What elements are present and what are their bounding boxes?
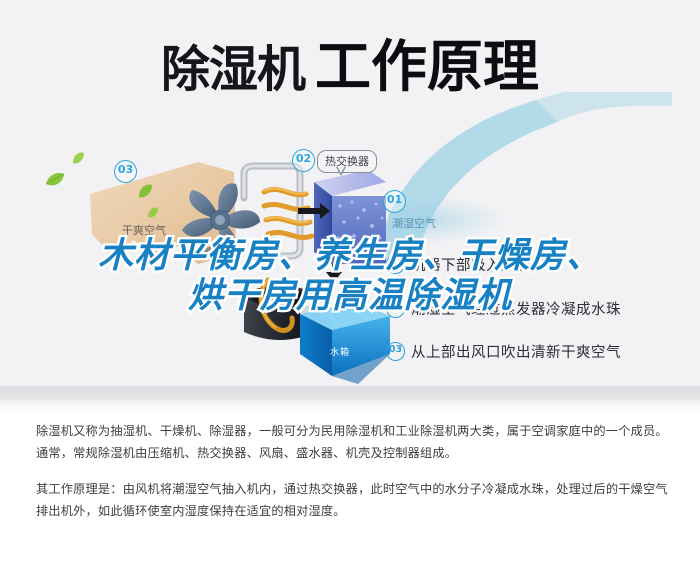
legend-item-01: 01 机器下部吸入潮湿空气	[386, 254, 561, 275]
title-part-dehumidifier: 除湿机	[161, 41, 305, 98]
legend-label: 从上部出风口吹出清新干爽空气	[411, 341, 621, 362]
leaf-icon	[71, 152, 86, 170]
body-paragraph-2: 其工作原理是：由风机将潮湿空气抽入机内，通过热交换器，此时空气中的水分子冷凝成水…	[36, 478, 668, 522]
leaf-icon	[137, 184, 154, 204]
background-swoosh-decoration	[372, 92, 700, 267]
image-bottom-shadow	[0, 386, 700, 412]
title-part-principle: 工作原理	[315, 35, 539, 100]
water-tank-label: 水箱	[330, 345, 350, 358]
legend-label: 机器下部吸入潮湿空气	[411, 254, 561, 275]
body-paragraph-1: 除湿机又称为抽湿机、干燥机、除湿器，一般可分为民用除湿机和工业除湿机两大类，属于…	[36, 420, 668, 464]
legend-number: 02	[386, 299, 405, 318]
callout-marker-01: 01	[383, 190, 406, 213]
heat-exchanger-callout-bubble: 热交换器	[317, 150, 377, 173]
callout-bubble-pointer	[336, 167, 346, 176]
dry-air-label: 干爽空气	[122, 222, 166, 238]
leaf-icon	[44, 172, 66, 193]
article-body: 除湿机又称为抽湿机、干燥机、除湿器，一般可分为民用除湿机和工业除湿机两大类，属于…	[36, 420, 668, 536]
legend-number: 03	[386, 342, 405, 361]
callout-marker-03: 03	[114, 160, 137, 183]
callout-marker-02: 02	[292, 149, 315, 172]
water-tank-illustration	[238, 272, 398, 387]
legend-item-03: 03 从上部出风口吹出清新干爽空气	[386, 341, 621, 362]
infographic-title: 除湿机工作原理	[0, 22, 700, 103]
humid-air-label: 潮湿空气	[392, 215, 436, 231]
legend-label: 潮湿空气经过蒸发器冷凝成水珠	[411, 298, 621, 319]
legend-item-02: 02 潮湿空气经过蒸发器冷凝成水珠	[386, 298, 621, 319]
infographic-image: 除湿机工作原理	[0, 0, 700, 400]
legend-number: 01	[386, 255, 405, 274]
